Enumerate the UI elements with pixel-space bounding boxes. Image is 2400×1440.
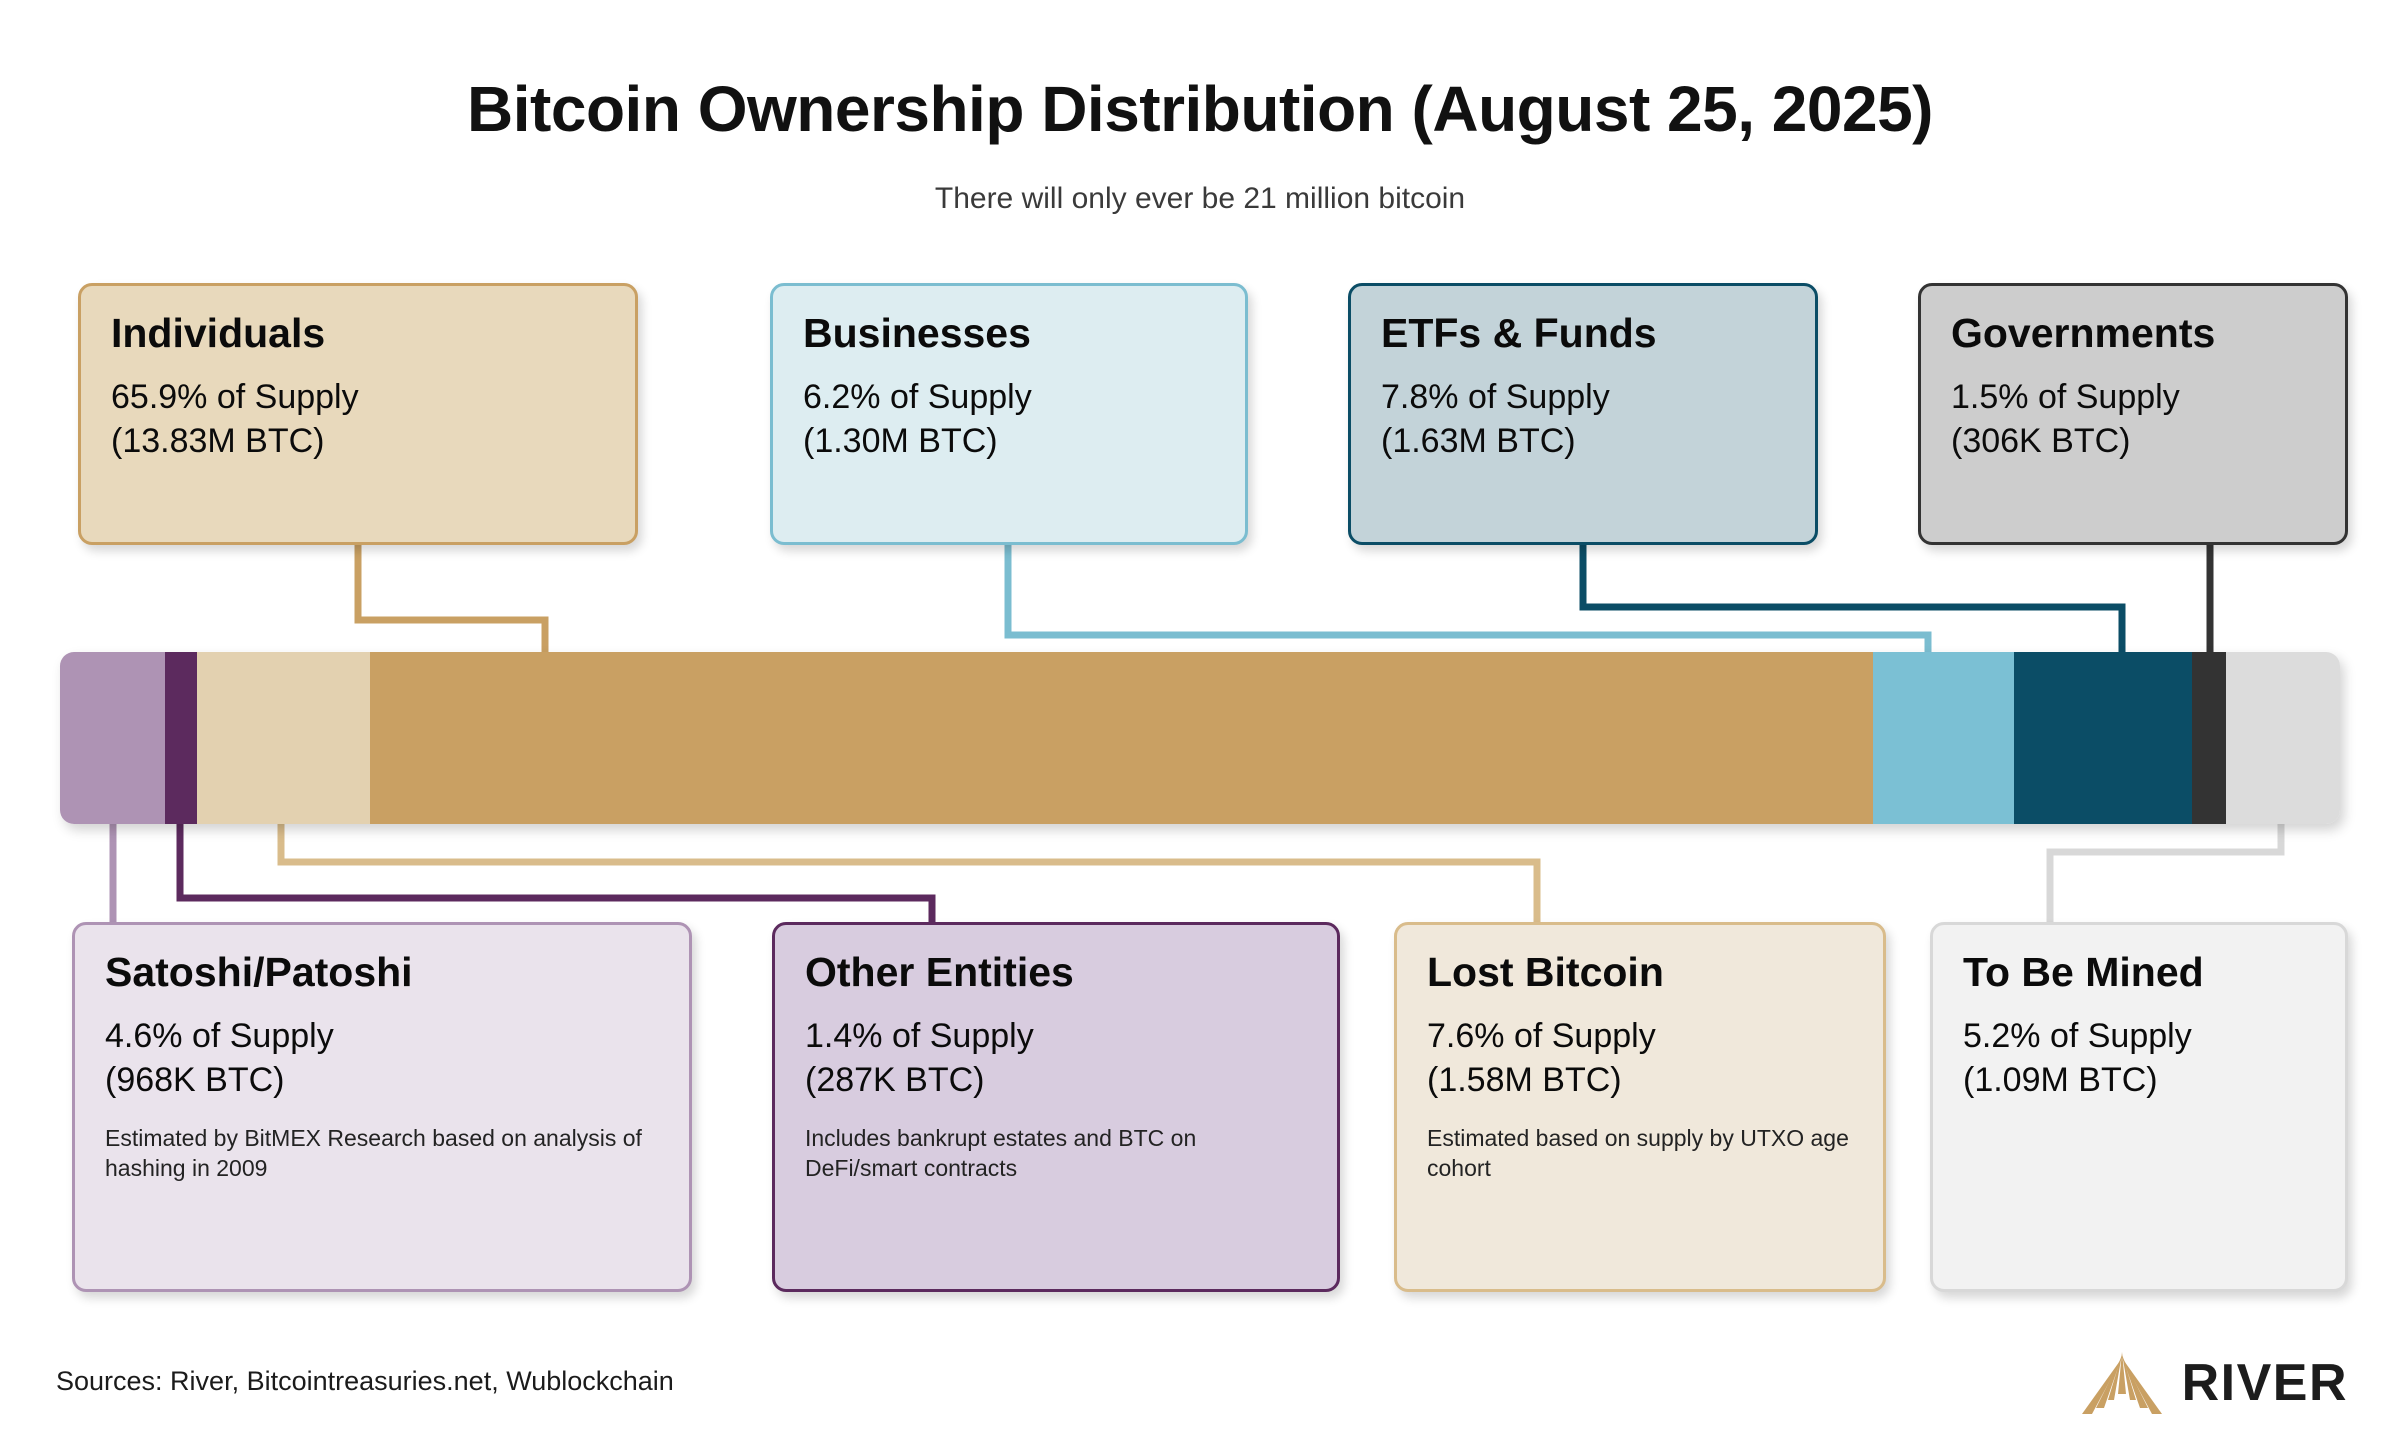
card-other-entities-btc: (287K BTC): [805, 1058, 1307, 1102]
connector-etfs: [1583, 545, 2122, 660]
card-satoshi-patoshi-note: Estimated by BitMEX Research based on an…: [105, 1124, 659, 1184]
card-other-entities-note: Includes bankrupt estates and BTC on DeF…: [805, 1124, 1307, 1184]
card-governments[interactable]: Governments 1.5% of Supply (306K BTC): [1918, 283, 2348, 545]
infographic-root: Bitcoin Ownership Distribution (August 2…: [0, 0, 2400, 1440]
card-businesses[interactable]: Businesses 6.2% of Supply (1.30M BTC): [770, 283, 1248, 545]
supply-distribution-bar: [60, 652, 2340, 824]
card-lost-bitcoin-percent: 7.6% of Supply: [1427, 1014, 1853, 1058]
card-businesses-percent: 6.2% of Supply: [803, 375, 1215, 419]
connector-individuals: [358, 545, 545, 660]
river-rays-logo-icon: [2078, 1350, 2166, 1416]
card-other-entities-title: Other Entities: [805, 951, 1307, 994]
bar-segment-etfs-funds[interactable]: [2014, 652, 2192, 824]
bar-segment-to-be-mined[interactable]: [2226, 652, 2340, 824]
card-lost-bitcoin[interactable]: Lost Bitcoin 7.6% of Supply (1.58M BTC) …: [1394, 922, 1886, 1292]
card-satoshi-patoshi-percent: 4.6% of Supply: [105, 1014, 659, 1058]
card-governments-btc: (306K BTC): [1951, 419, 2315, 463]
bar-segment-businesses[interactable]: [1873, 652, 2014, 824]
card-lost-bitcoin-title: Lost Bitcoin: [1427, 951, 1853, 994]
card-lost-bitcoin-note: Estimated based on supply by UTXO age co…: [1427, 1124, 1853, 1184]
card-to-be-mined-btc: (1.09M BTC): [1963, 1058, 2315, 1102]
river-logo-text: RIVER: [2182, 1353, 2348, 1413]
card-governments-percent: 1.5% of Supply: [1951, 375, 2315, 419]
card-individuals-percent: 65.9% of Supply: [111, 375, 605, 419]
bar-segment-satoshi[interactable]: [60, 652, 165, 824]
card-governments-title: Governments: [1951, 312, 2315, 355]
card-businesses-title: Businesses: [803, 312, 1215, 355]
bar-segment-governments[interactable]: [2192, 652, 2226, 824]
card-other-entities[interactable]: Other Entities 1.4% of Supply (287K BTC)…: [772, 922, 1340, 1292]
page-subtitle: There will only ever be 21 million bitco…: [0, 182, 2400, 216]
card-etfs-funds-btc: (1.63M BTC): [1381, 419, 1785, 463]
card-other-entities-percent: 1.4% of Supply: [805, 1014, 1307, 1058]
card-individuals[interactable]: Individuals 65.9% of Supply (13.83M BTC): [78, 283, 638, 545]
sources-text: Sources: River, Bitcointreasuries.net, W…: [56, 1366, 674, 1397]
card-etfs-funds-percent: 7.8% of Supply: [1381, 375, 1785, 419]
card-to-be-mined[interactable]: To Be Mined 5.2% of Supply (1.09M BTC): [1930, 922, 2348, 1292]
card-satoshi-patoshi-btc: (968K BTC): [105, 1058, 659, 1102]
bar-segment-other-entities[interactable]: [165, 652, 197, 824]
page-title: Bitcoin Ownership Distribution (August 2…: [0, 72, 2400, 146]
card-individuals-btc: (13.83M BTC): [111, 419, 605, 463]
card-etfs-funds-title: ETFs & Funds: [1381, 312, 1785, 355]
card-etfs-funds[interactable]: ETFs & Funds 7.8% of Supply (1.63M BTC): [1348, 283, 1818, 545]
card-to-be-mined-title: To Be Mined: [1963, 951, 2315, 994]
card-satoshi-patoshi[interactable]: Satoshi/Patoshi 4.6% of Supply (968K BTC…: [72, 922, 692, 1292]
card-individuals-title: Individuals: [111, 312, 605, 355]
bar-segment-lost-bitcoin[interactable]: [197, 652, 370, 824]
card-lost-bitcoin-btc: (1.58M BTC): [1427, 1058, 1853, 1102]
bar-segment-individuals[interactable]: [370, 652, 1873, 824]
river-logo: RIVER: [2078, 1348, 2348, 1418]
card-to-be-mined-percent: 5.2% of Supply: [1963, 1014, 2315, 1058]
card-satoshi-patoshi-title: Satoshi/Patoshi: [105, 951, 659, 994]
card-businesses-btc: (1.30M BTC): [803, 419, 1215, 463]
connector-businesses: [1008, 545, 1928, 660]
